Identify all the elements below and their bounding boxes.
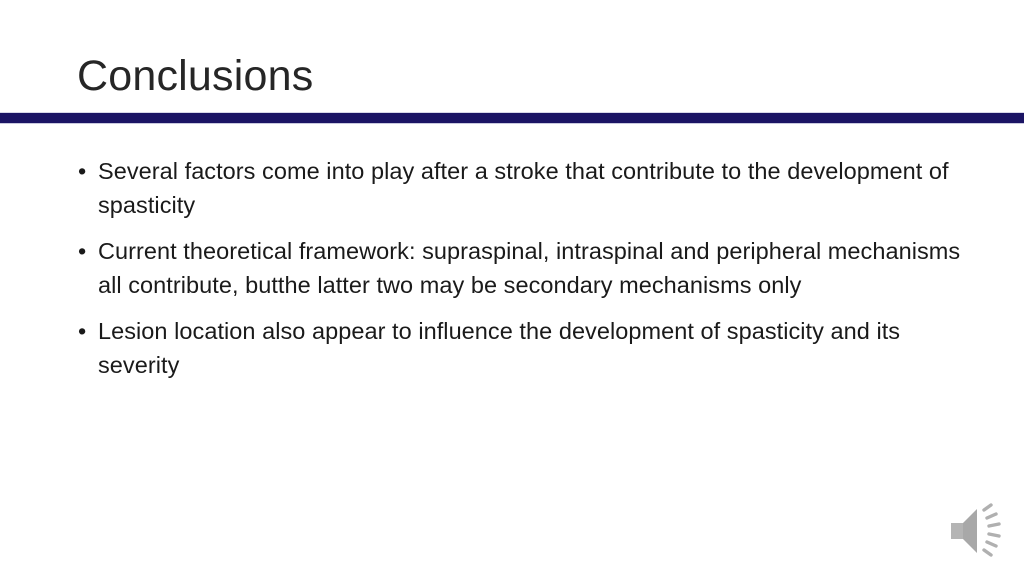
list-item: • Several factors come into play after a… bbox=[77, 155, 977, 222]
title-divider-rule bbox=[0, 112, 1024, 124]
page-title: Conclusions bbox=[77, 48, 313, 104]
title-block: Conclusions bbox=[0, 48, 1024, 110]
list-item-text: Lesion location also appear to influence… bbox=[98, 315, 977, 382]
list-item: • Lesion location also appear to influen… bbox=[77, 315, 977, 382]
list-item-text: Current theoretical framework: supraspin… bbox=[98, 235, 977, 302]
list-item: • Current theoretical framework: suprasp… bbox=[77, 235, 977, 302]
bullet-dot-icon: • bbox=[78, 235, 86, 269]
slide-canvas: Conclusions • Several factors come into … bbox=[0, 0, 1024, 576]
bullet-dot-icon: • bbox=[78, 155, 86, 189]
bullet-list: • Several factors come into play after a… bbox=[77, 155, 977, 382]
list-item-text: Several factors come into play after a s… bbox=[98, 155, 977, 222]
bullet-dot-icon: • bbox=[78, 315, 86, 349]
speaker-audio-icon[interactable] bbox=[941, 500, 1009, 562]
